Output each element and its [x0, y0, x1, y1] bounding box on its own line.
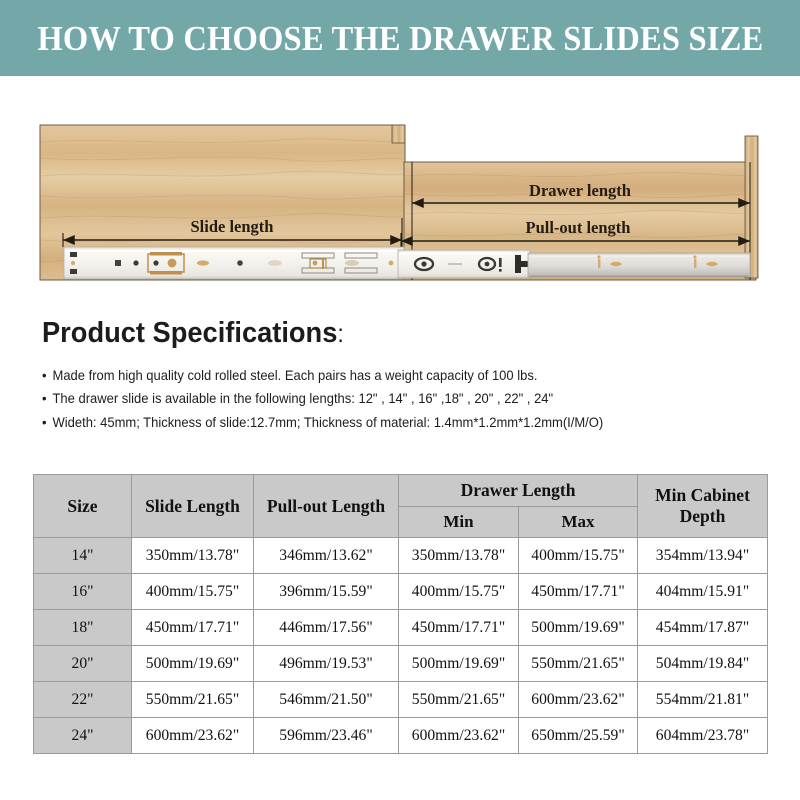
cell-slide-length: 600mm/23.62"	[132, 718, 254, 754]
cell-drawer-min: 600mm/23.62"	[399, 718, 519, 754]
cell-size: 20"	[34, 646, 132, 682]
bullet-icon: •	[42, 411, 53, 434]
cell-pull-out-length: 446mm/17.56"	[254, 610, 399, 646]
table-row: 20" 500mm/19.69" 496mm/19.53" 500mm/19.6…	[34, 646, 768, 682]
header-slide-length: Slide Length	[132, 475, 254, 538]
cell-drawer-min: 450mm/17.71"	[399, 610, 519, 646]
cell-min-cabinet-depth: 554mm/21.81"	[638, 682, 768, 718]
cell-drawer-min: 550mm/21.65"	[399, 682, 519, 718]
header-drawer-length: Drawer Length	[399, 475, 638, 507]
diagram-svg: Slide length Drawer length Pull-out leng…	[0, 100, 800, 300]
cell-size: 24"	[34, 718, 132, 754]
specifications-heading-colon: :	[337, 320, 344, 348]
spec-bullet-text: Wideth: 45mm; Thickness of slide:12.7mm;…	[53, 415, 604, 430]
cell-drawer-max: 450mm/17.71"	[519, 574, 638, 610]
header-size: Size	[34, 475, 132, 538]
cell-drawer-max: 650mm/25.59"	[519, 718, 638, 754]
drawer-slide-diagram: Slide length Drawer length Pull-out leng…	[0, 100, 800, 300]
spec-bullet-item: •Wideth: 45mm; Thickness of slide:12.7mm…	[42, 411, 739, 434]
slide-length-label: Slide length	[191, 217, 274, 236]
specifications-heading-text: Product Specifications	[42, 317, 337, 349]
spec-bullet-item: •The drawer slide is available in the fo…	[42, 387, 739, 410]
header-drawer-max: Max	[519, 507, 638, 538]
drawer-length-label: Drawer length	[529, 181, 631, 200]
cell-drawer-min: 500mm/19.69"	[399, 646, 519, 682]
table-head: Size Slide Length Pull-out Length Drawer…	[34, 475, 768, 538]
cell-drawer-max: 550mm/21.65"	[519, 646, 638, 682]
pull-out-length-label: Pull-out length	[526, 218, 631, 237]
cell-min-cabinet-depth: 454mm/17.87"	[638, 610, 768, 646]
cell-min-cabinet-depth: 404mm/15.91"	[638, 574, 768, 610]
specifications-heading: Product Specifications:	[42, 318, 728, 350]
cell-min-cabinet-depth: 354mm/13.94"	[638, 538, 768, 574]
table-row: 18" 450mm/17.71" 446mm/17.56" 450mm/17.7…	[34, 610, 768, 646]
cell-slide-length: 400mm/15.75"	[132, 574, 254, 610]
cell-size: 16"	[34, 574, 132, 610]
cell-size: 22"	[34, 682, 132, 718]
table-body: 14" 350mm/13.78" 346mm/13.62" 350mm/13.7…	[34, 538, 768, 754]
cell-slide-length: 500mm/19.69"	[132, 646, 254, 682]
cell-pull-out-length: 596mm/23.46"	[254, 718, 399, 754]
specifications-table-container: Size Slide Length Pull-out Length Drawer…	[33, 474, 767, 754]
header-min-cabinet-depth: Min Cabinet Depth	[638, 475, 768, 538]
cell-size: 14"	[34, 538, 132, 574]
cell-pull-out-length: 546mm/21.50"	[254, 682, 399, 718]
bullet-icon: •	[42, 364, 53, 387]
slide-rail-inner-member	[528, 253, 750, 277]
bullet-icon: •	[42, 387, 53, 410]
cell-pull-out-length: 496mm/19.53"	[254, 646, 399, 682]
table-row: 22" 550mm/21.65" 546mm/21.50" 550mm/21.6…	[34, 682, 768, 718]
page-header-banner: HOW TO CHOOSE THE DRAWER SLIDES SIZE	[0, 0, 800, 76]
cell-drawer-max: 400mm/15.75"	[519, 538, 638, 574]
cell-drawer-max: 600mm/23.62"	[519, 682, 638, 718]
slide-rail-outer-member	[64, 247, 404, 279]
header-pull-out-length: Pull-out Length	[254, 475, 399, 538]
cell-min-cabinet-depth: 504mm/19.84"	[638, 646, 768, 682]
slide-rail-intermediate-member	[398, 250, 540, 278]
spec-bullet-text: The drawer slide is available in the fol…	[53, 391, 554, 406]
table-row: 14" 350mm/13.78" 346mm/13.62" 350mm/13.7…	[34, 538, 768, 574]
cell-slide-length: 450mm/17.71"	[132, 610, 254, 646]
table-row: 16" 400mm/15.75" 396mm/15.59" 400mm/15.7…	[34, 574, 768, 610]
header-drawer-min: Min	[399, 507, 519, 538]
spec-bullet-item: •Made from high quality cold rolled stee…	[42, 364, 739, 387]
cell-pull-out-length: 346mm/13.62"	[254, 538, 399, 574]
cell-min-cabinet-depth: 604mm/23.78"	[638, 718, 768, 754]
cell-drawer-min: 350mm/13.78"	[399, 538, 519, 574]
cell-size: 18"	[34, 610, 132, 646]
specifications-bullet-list: •Made from high quality cold rolled stee…	[42, 364, 772, 434]
page-title: HOW TO CHOOSE THE DRAWER SLIDES SIZE	[37, 21, 763, 56]
cell-pull-out-length: 396mm/15.59"	[254, 574, 399, 610]
drawer-slide-size-table: Size Slide Length Pull-out Length Drawer…	[33, 474, 768, 754]
cell-slide-length: 350mm/13.78"	[132, 538, 254, 574]
product-specifications-section: Product Specifications: •Made from high …	[42, 318, 772, 434]
cell-drawer-min: 400mm/15.75"	[399, 574, 519, 610]
table-row: 24" 600mm/23.62" 596mm/23.46" 600mm/23.6…	[34, 718, 768, 754]
table-header-row-1: Size Slide Length Pull-out Length Drawer…	[34, 475, 768, 507]
spec-bullet-text: Made from high quality cold rolled steel…	[53, 368, 538, 383]
cell-slide-length: 550mm/21.65"	[132, 682, 254, 718]
cell-drawer-max: 500mm/19.69"	[519, 610, 638, 646]
